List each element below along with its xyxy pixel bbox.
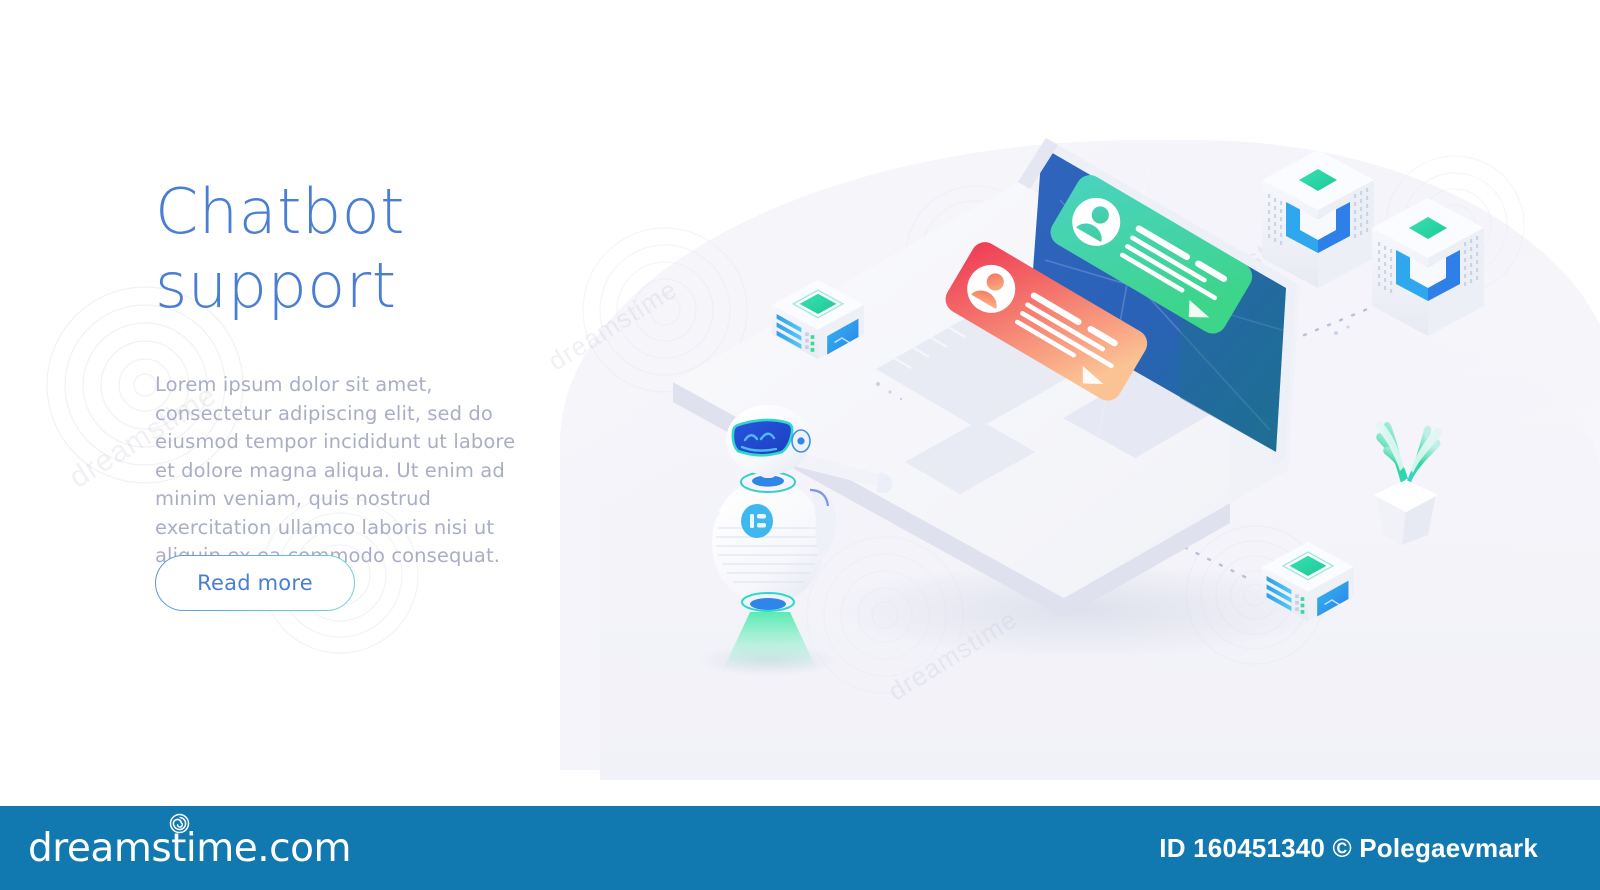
data-cube-1[interactable] [1262,150,1374,288]
robot-thruster [750,598,786,610]
poster-canvas: dreamstime dreamstime dreamstime dreamst… [0,0,1600,890]
robot-body [712,480,824,604]
dreamstime-logo[interactable]: dreamstime.com [28,829,351,868]
robot-chest-badge [741,504,773,538]
data-cube-2[interactable] [1372,198,1484,336]
robot-hover-glow [722,612,818,672]
dreamstime-spiral-icon [169,813,190,834]
dreamstime-logo-text: dreamstime.com [28,829,351,868]
potted-plant [1376,421,1443,545]
footer-bar: dreamstime.com ID 160451340 © Polegaevma… [0,806,1600,890]
image-credit: ID 160451340 © Polegaevmark [1159,833,1538,864]
chatbot-illustration [0,0,1600,790]
robot-ear-center [797,437,804,444]
